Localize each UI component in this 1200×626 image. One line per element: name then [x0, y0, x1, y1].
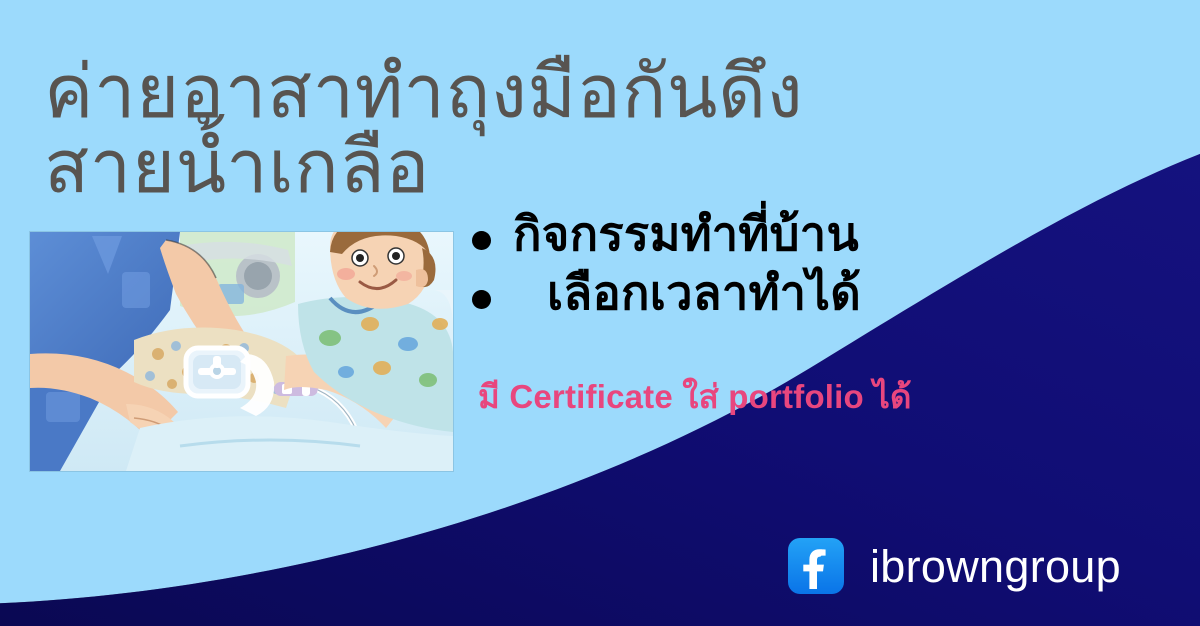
page-title: ค่ายอาสาทำถุงมือกันดึง สายน้ำเกลือ: [44, 54, 994, 205]
facebook-contact[interactable]: ibrowngroup: [788, 538, 1121, 594]
facebook-icon[interactable]: [788, 538, 844, 594]
promo-banner: ค่ายอาสาทำถุงมือกันดึง สายน้ำเกลือ: [0, 0, 1200, 626]
iv-sleeve-illustration: [30, 232, 453, 471]
list-item: กิจกรรมทำที่บ้าน: [472, 205, 1032, 262]
certificate-note: มี Certificate ใส่ portfolio ได้: [478, 370, 912, 423]
illustration-photo: [30, 232, 453, 471]
bullet-label: กิจกรรมทำที่บ้าน: [513, 205, 859, 262]
list-item: เลือกเวลาทำได้: [472, 264, 1032, 321]
feature-bullet-list: กิจกรรมทำที่บ้าน เลือกเวลาทำได้: [472, 205, 1032, 324]
facebook-handle[interactable]: ibrowngroup: [870, 544, 1121, 589]
bullet-label: เลือกเวลาทำได้: [513, 264, 861, 321]
bullet-dot-icon: [472, 290, 491, 309]
bullet-dot-icon: [472, 231, 491, 250]
